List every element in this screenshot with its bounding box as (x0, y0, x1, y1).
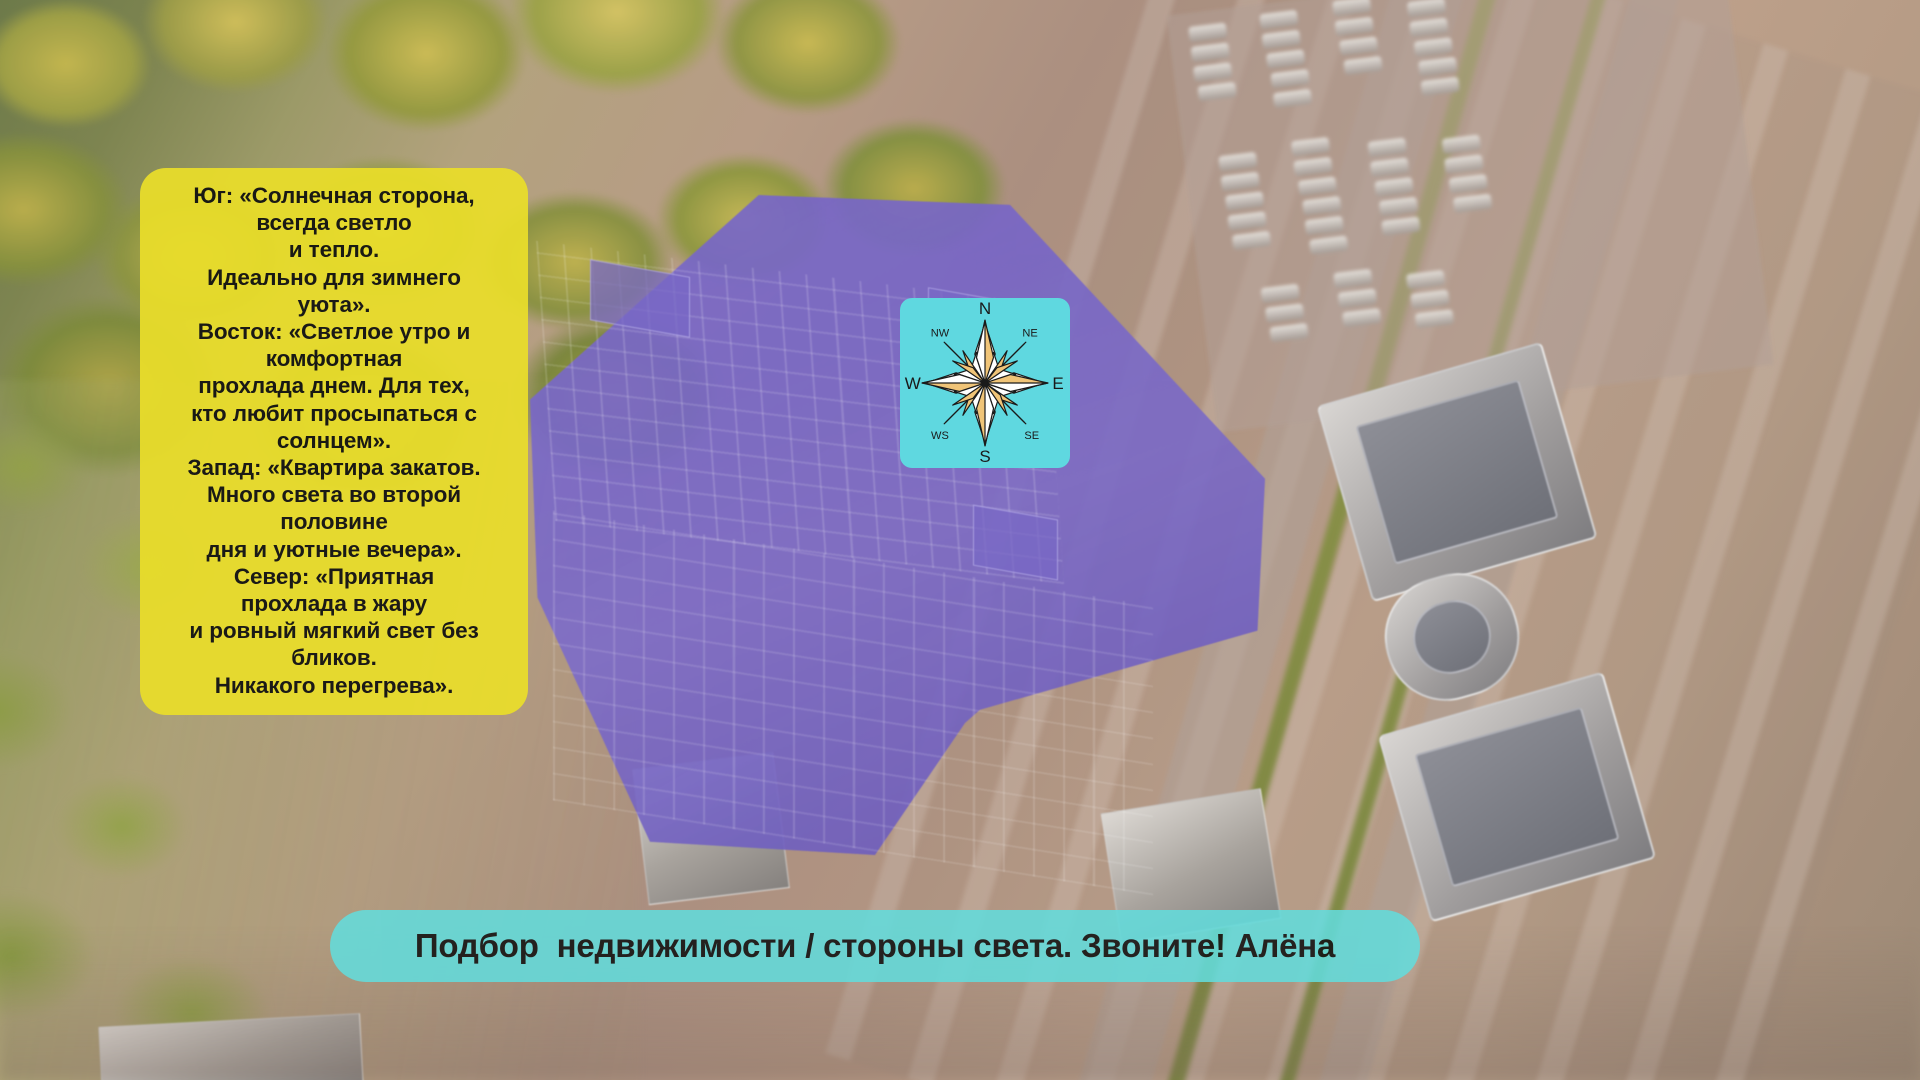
info-line-10: Запад: «Квартира закатов. (154, 454, 514, 481)
info-card: Юг: «Солнечная сторона, всегда светло и … (140, 168, 528, 715)
info-line-12: половине (154, 508, 514, 535)
compass-label-w: W (905, 374, 921, 393)
compass-label-n: N (979, 299, 991, 318)
cta-banner-text: Подбор недвижимости / стороны света. Зво… (415, 927, 1335, 965)
cta-banner[interactable]: Подбор недвижимости / стороны света. Зво… (330, 910, 1420, 982)
info-line-13: дня и уютные вечера». (154, 536, 514, 563)
poster-canvas: Юг: «Солнечная сторона, всегда светло и … (0, 0, 1920, 1080)
compass-rose-icon: N NE E SE S WS W NW (900, 298, 1070, 468)
info-line-14: Север: «Приятная (154, 563, 514, 590)
compass-label-s: S (979, 447, 990, 466)
info-line-9: солнцем». (154, 427, 514, 454)
compass-label-se: SE (1024, 430, 1039, 442)
info-line-7: прохлада днем. Для тех, (154, 372, 514, 399)
highlighted-building-overlay (530, 195, 1280, 855)
info-line-11: Много света во второй (154, 481, 514, 508)
info-line-0: Юг: «Солнечная сторона, (154, 182, 514, 209)
compass-label-e: E (1052, 374, 1063, 393)
info-line-16: и ровный мягкий свет без (154, 617, 514, 644)
info-line-6: комфортная (154, 345, 514, 372)
info-line-15: прохлада в жару (154, 590, 514, 617)
compass-label-ws: WS (931, 430, 949, 442)
info-line-5: Восток: «Светлое утро и (154, 318, 514, 345)
info-line-2: и тепло. (154, 236, 514, 263)
info-line-18: Никакого перегрева». (154, 672, 514, 699)
info-line-17: бликов. (154, 644, 514, 671)
compass-label-ne: NE (1022, 327, 1037, 339)
info-line-4: уюта». (154, 291, 514, 318)
compass-label-nw: NW (931, 327, 950, 339)
info-line-1: всегда светло (154, 209, 514, 236)
info-line-8: кто любит просыпаться с (154, 400, 514, 427)
info-line-3: Идеально для зимнего (154, 264, 514, 291)
